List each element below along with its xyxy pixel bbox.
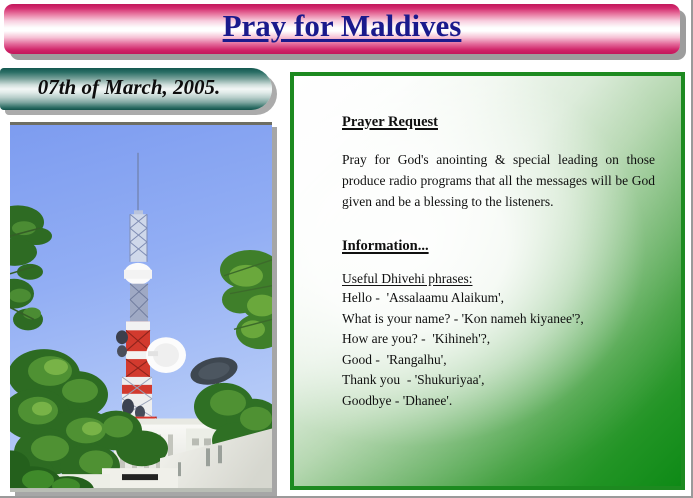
information-heading: Information...	[342, 238, 659, 255]
phrases-label: Useful Dhivehi phrases:	[342, 271, 659, 287]
date-badge: 07th of March, 2005.	[0, 68, 272, 110]
phrase-line: Good - 'Rangalhu',	[342, 350, 659, 371]
phrase-line: Thank you - 'Shukuriyaa',	[342, 370, 659, 391]
tower-photo-illustration	[10, 125, 272, 492]
prayer-request-body: Pray for God's anointing & special leadi…	[342, 149, 659, 212]
prayer-request-heading: Prayer Request	[342, 114, 659, 131]
phrase-line: What is your name? - 'Kon nameh kiyanee'…	[342, 309, 659, 330]
phrase-line: Hello - 'Assalaamu Alaikum',	[342, 288, 659, 309]
dhivehi-phrases-block: Useful Dhivehi phrases: Hello - 'Assalaa…	[342, 271, 659, 411]
content-inner: Prayer Request Pray for God's anointing …	[294, 76, 681, 411]
phrase-line: Goodbye - 'Dhanee'.	[342, 391, 659, 412]
title-banner: Pray for Maldives	[4, 4, 680, 54]
content-panel: Prayer Request Pray for God's anointing …	[290, 72, 685, 490]
phrase-line: How are you? - 'Kihineh'?,	[342, 329, 659, 350]
date-label: 07th of March, 2005.	[0, 75, 258, 100]
page-title: Pray for Maldives	[4, 8, 680, 44]
slide-canvas: Pray for Maldives 07th of March, 2005.	[0, 0, 693, 498]
tower-photo	[10, 122, 272, 492]
